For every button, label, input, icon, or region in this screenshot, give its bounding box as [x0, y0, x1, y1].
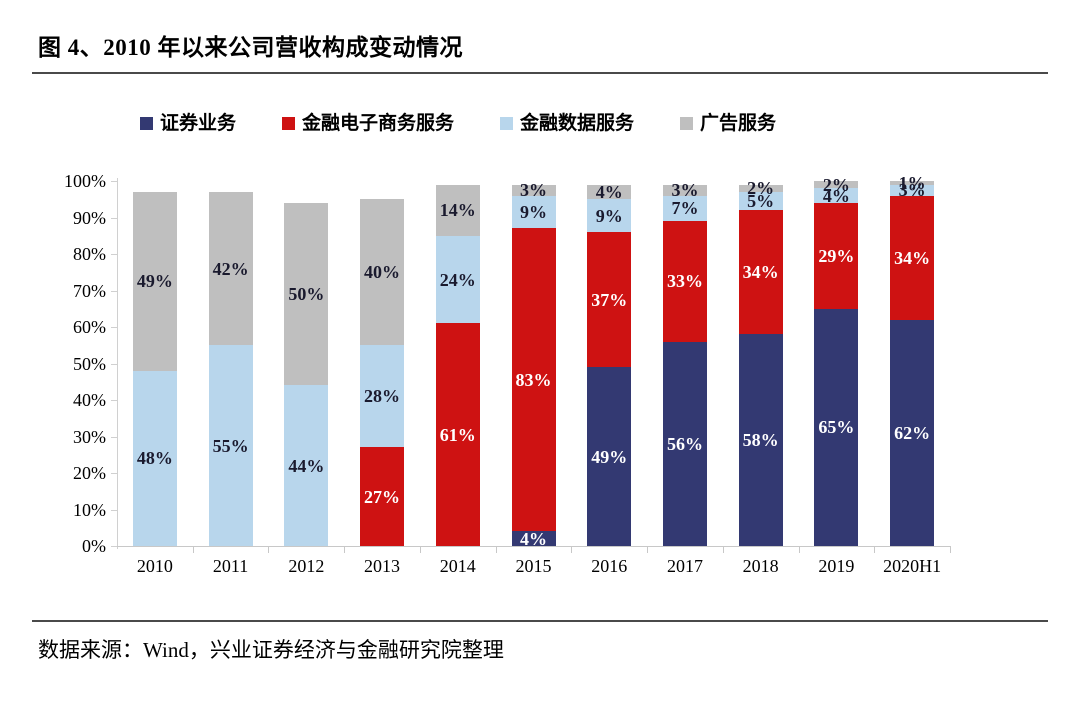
y-axis-tick: [111, 400, 117, 401]
bar-segment[interactable]: [890, 196, 934, 320]
bar-segment[interactable]: [890, 320, 934, 546]
y-axis-tick: [111, 254, 117, 255]
bar-segment[interactable]: [436, 323, 480, 546]
y-axis-tick: [111, 510, 117, 511]
source-divider: [32, 620, 1048, 622]
x-tick-label-2017: 2017: [667, 556, 703, 577]
bar-segment[interactable]: [587, 199, 631, 232]
bar-segment[interactable]: [133, 192, 177, 371]
legend-item-1[interactable]: 金融电子商务服务: [282, 114, 454, 133]
bar-segment[interactable]: [360, 447, 404, 546]
bar-2013[interactable]: 27%28%40%: [360, 181, 404, 546]
x-tick-label-2018: 2018: [743, 556, 779, 577]
legend-item-label: 金融电子商务服务: [302, 114, 454, 133]
title-divider: [32, 72, 1048, 74]
bar-2015[interactable]: 4%83%9%3%: [512, 181, 556, 546]
bar-2019[interactable]: 65%29%4%2%: [814, 181, 858, 546]
plot-area: 48%49%55%42%44%50%27%28%40%61%24%14%4%83…: [117, 181, 950, 546]
y-tick-label: 0%: [40, 537, 106, 555]
y-axis-tick: [111, 218, 117, 219]
y-axis-tick: [111, 473, 117, 474]
x-axis-tick-labels: 2010201120122013201420152016201720182019…: [117, 556, 950, 586]
bar-2011[interactable]: 55%42%: [209, 181, 253, 546]
legend-item-label: 证券业务: [160, 114, 236, 133]
x-tick-label-2020H1: 2020H1: [883, 556, 941, 577]
x-axis-tick: [647, 546, 648, 553]
legend-swatch-icon: [282, 117, 295, 130]
bar-segment[interactable]: [209, 192, 253, 345]
bar-segment[interactable]: [209, 345, 253, 546]
bar-segment[interactable]: [739, 334, 783, 546]
bar-segment[interactable]: [814, 181, 858, 188]
x-tick-label-2012: 2012: [288, 556, 324, 577]
bar-segment[interactable]: [663, 342, 707, 546]
bar-2020H1[interactable]: 62%34%3%1%: [890, 181, 934, 546]
y-axis-tick-labels: 100%90%80%70%60%50%40%30%20%10%0%: [36, 0, 106, 710]
bar-2017[interactable]: 56%33%7%3%: [663, 181, 707, 546]
bar-segment[interactable]: [360, 199, 404, 345]
x-tick-label-2010: 2010: [137, 556, 173, 577]
bar-segment[interactable]: [133, 371, 177, 546]
bar-segment[interactable]: [663, 185, 707, 196]
bar-2012[interactable]: 44%50%: [284, 181, 328, 546]
legend-swatch-icon: [140, 117, 153, 130]
y-tick-label: 20%: [40, 464, 106, 482]
y-tick-label: 80%: [40, 245, 106, 263]
bar-segment[interactable]: [814, 309, 858, 546]
bar-segment[interactable]: [890, 181, 934, 185]
x-axis-tick: [420, 546, 421, 553]
bar-segment[interactable]: [890, 185, 934, 196]
x-tick-label-2014: 2014: [440, 556, 476, 577]
bar-2018[interactable]: 58%34%5%2%: [739, 181, 783, 546]
bar-segment[interactable]: [739, 210, 783, 334]
bar-segment[interactable]: [663, 196, 707, 222]
y-axis-tick: [111, 327, 117, 328]
y-axis-tick: [111, 181, 117, 182]
bar-segment[interactable]: [739, 185, 783, 192]
bar-2014[interactable]: 61%24%14%: [436, 181, 480, 546]
legend-item-2[interactable]: 金融数据服务: [500, 114, 634, 133]
bar-segment[interactable]: [436, 185, 480, 236]
x-axis-tick: [723, 546, 724, 553]
legend-item-3[interactable]: 广告服务: [680, 114, 776, 133]
bar-segment[interactable]: [512, 228, 556, 531]
source-note: 数据来源：Wind，兴业证券经济与金融研究院整理: [38, 634, 504, 664]
x-axis-tick: [571, 546, 572, 553]
legend-item-label: 广告服务: [700, 114, 776, 133]
legend-item-0[interactable]: 证券业务: [140, 114, 236, 133]
bar-segment[interactable]: [284, 385, 328, 546]
bar-segment[interactable]: [436, 236, 480, 324]
legend-swatch-icon: [680, 117, 693, 130]
bar-segment[interactable]: [587, 185, 631, 200]
bar-2010[interactable]: 48%49%: [133, 181, 177, 546]
bar-segment[interactable]: [587, 232, 631, 367]
legend-item-label: 金融数据服务: [520, 114, 634, 133]
y-axis-tick: [111, 437, 117, 438]
y-axis-tick: [111, 364, 117, 365]
bar-segment[interactable]: [512, 196, 556, 229]
x-axis-tick: [496, 546, 497, 553]
bar-segment[interactable]: [663, 221, 707, 341]
bar-segment[interactable]: [587, 367, 631, 546]
y-tick-label: 60%: [40, 318, 106, 336]
x-axis-tick: [268, 546, 269, 553]
bar-segment[interactable]: [360, 345, 404, 447]
x-axis-line: [117, 546, 950, 547]
bar-segment[interactable]: [284, 203, 328, 386]
y-axis-tick: [111, 291, 117, 292]
y-axis-tick: [111, 546, 117, 547]
y-tick-label: 30%: [40, 428, 106, 446]
x-axis-tick: [950, 546, 951, 553]
bar-segment[interactable]: [814, 188, 858, 203]
legend-swatch-icon: [500, 117, 513, 130]
bar-segment[interactable]: [814, 203, 858, 309]
bar-2016[interactable]: 49%37%9%4%: [587, 181, 631, 546]
x-axis-tick: [874, 546, 875, 553]
x-tick-label-2013: 2013: [364, 556, 400, 577]
x-tick-label-2011: 2011: [213, 556, 248, 577]
bar-segment[interactable]: [739, 192, 783, 210]
y-tick-label: 50%: [40, 355, 106, 373]
y-tick-label: 40%: [40, 391, 106, 409]
x-tick-label-2015: 2015: [516, 556, 552, 577]
bar-segment[interactable]: [512, 531, 556, 546]
y-tick-label: 10%: [40, 501, 106, 519]
bar-segment[interactable]: [512, 185, 556, 196]
x-axis-tick: [193, 546, 194, 553]
x-tick-label-2019: 2019: [818, 556, 854, 577]
y-tick-label: 70%: [40, 282, 106, 300]
y-tick-label: 100%: [40, 172, 106, 190]
x-axis-tick: [799, 546, 800, 553]
y-tick-label: 90%: [40, 209, 106, 227]
x-tick-label-2016: 2016: [591, 556, 627, 577]
x-axis-tick: [344, 546, 345, 553]
chart-legend: 证券业务金融电子商务服务金融数据服务广告服务: [140, 114, 776, 133]
